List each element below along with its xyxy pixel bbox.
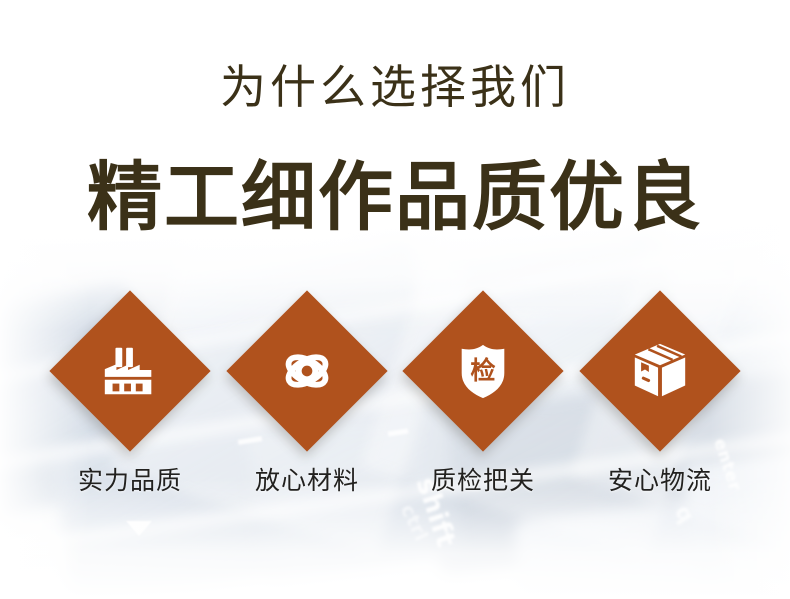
- feature-label: 安心物流: [577, 468, 743, 493]
- banner-content: 为什么选择我们 精工细作品质优良: [0, 0, 790, 599]
- feature-item-quality-inspection[interactable]: 检 质检把关: [400, 288, 566, 493]
- feature-item-secure-logistics[interactable]: 安心物流: [577, 288, 743, 493]
- feature-item-reliable-material[interactable]: 放心材料: [224, 288, 390, 493]
- banner-headline: 精工细作品质优良: [0, 160, 790, 235]
- shield-check-icon: 检: [400, 288, 566, 454]
- feature-badge[interactable]: [577, 288, 743, 454]
- feature-list: 实力品质: [0, 288, 790, 518]
- feature-label: 实力品质: [47, 468, 213, 493]
- package-box-icon: [577, 288, 743, 454]
- feature-label: 放心材料: [224, 468, 390, 493]
- feature-label: 质检把关: [400, 468, 566, 493]
- factory-icon: [47, 288, 213, 454]
- banner-subtitle: 为什么选择我们: [0, 64, 790, 110]
- atom-icon: [224, 288, 390, 454]
- feature-badge[interactable]: [224, 288, 390, 454]
- feature-item-strength-quality[interactable]: 实力品质: [47, 288, 213, 493]
- promo-banner: shift enter ctrl q 为什么选择我们 精工细作品质优良: [0, 0, 790, 599]
- feature-badge[interactable]: 检: [400, 288, 566, 454]
- feature-badge[interactable]: [47, 288, 213, 454]
- shield-glyph: 检: [470, 356, 495, 385]
